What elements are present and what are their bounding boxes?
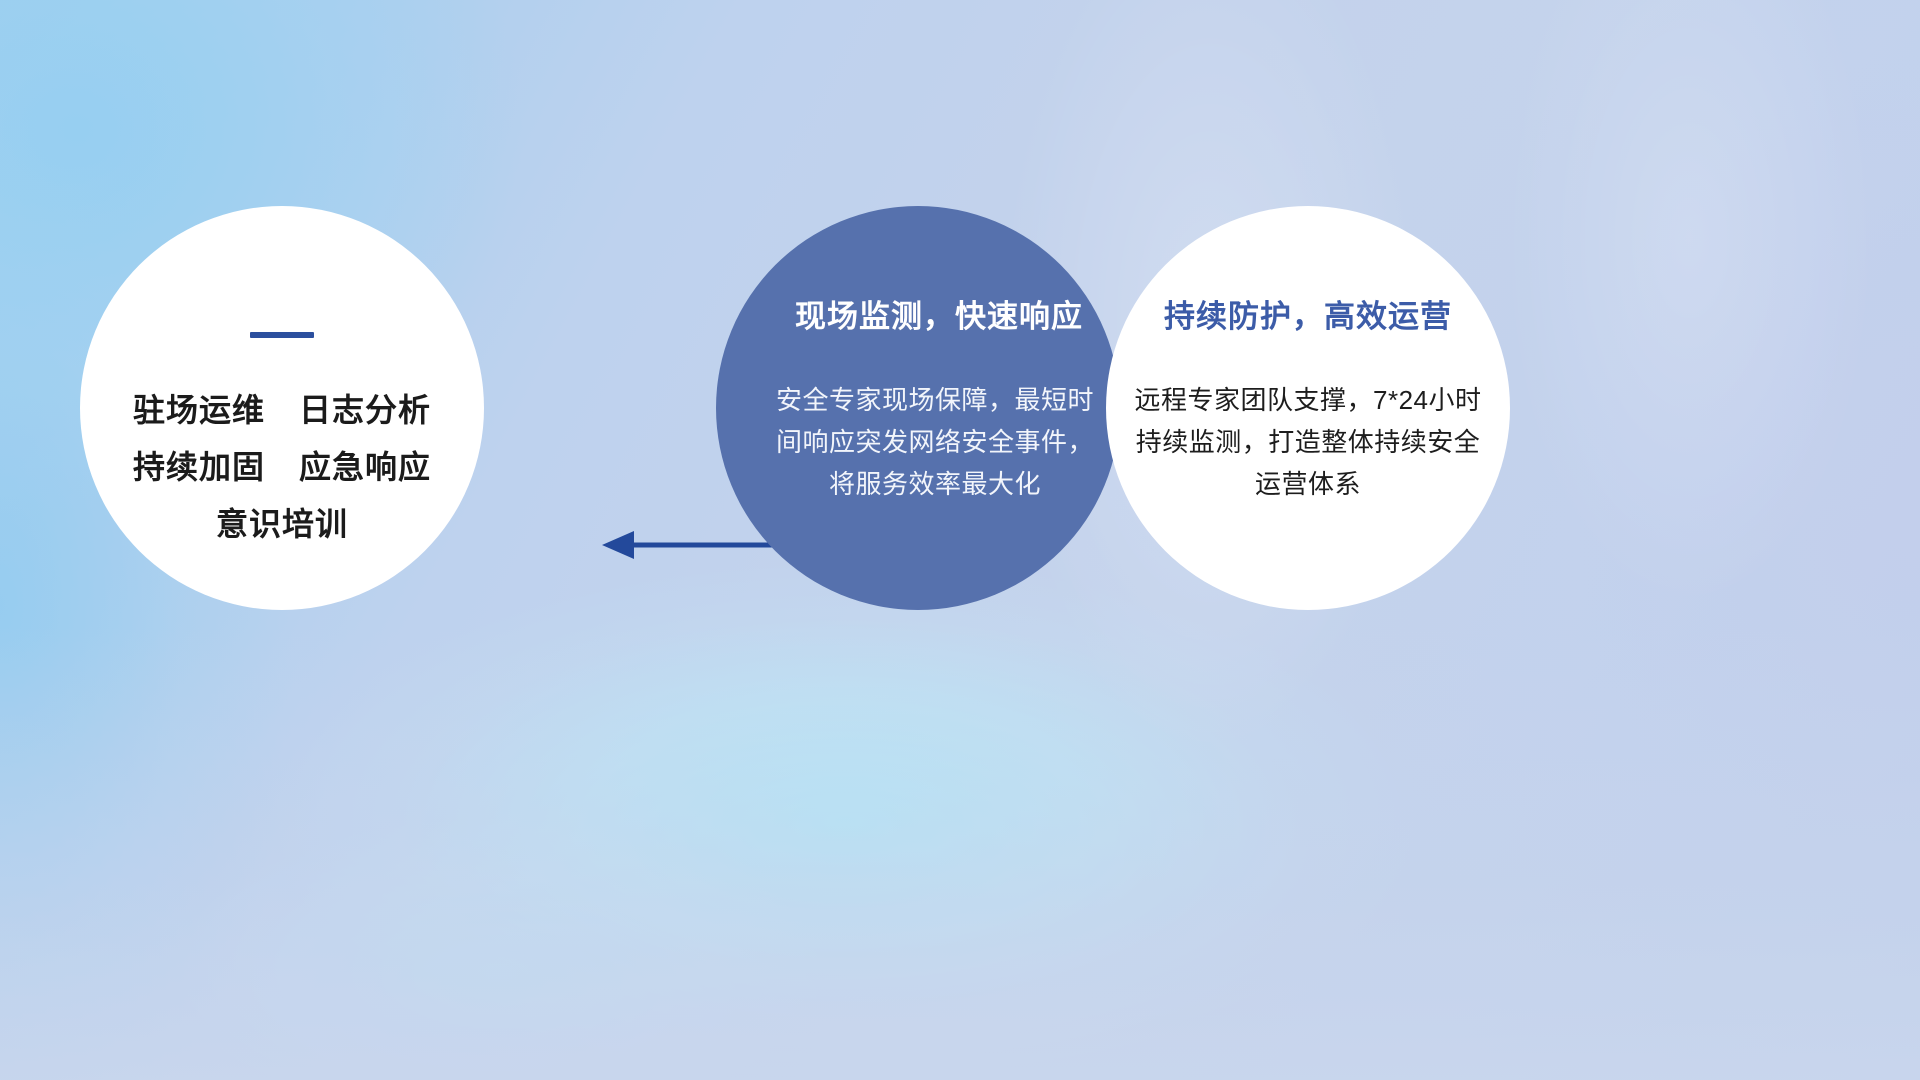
- capability-row: 意识培训: [216, 508, 348, 540]
- capability-keyword[interactable]: 意识培训: [216, 508, 348, 540]
- capability-keyword-list: 驻场运维 日志分析 持续加固 应急响应 意识培训: [133, 394, 431, 540]
- right-circle-body: 远程专家团队支撑，7*24小时持续监测，打造整体持续安全运营体系: [1134, 379, 1482, 505]
- right-circle-title: 持续防护，高效运营: [1134, 298, 1482, 335]
- divider-line: [250, 332, 314, 338]
- middle-circle-body: 安全专家现场保障，最短时间响应突发网络安全事件，将服务效率最大化: [776, 379, 1094, 505]
- capability-row: 驻场运维 日志分析: [133, 394, 431, 426]
- middle-circle-content: 现场监测，快速响应 安全专家现场保障，最短时间响应突发网络安全事件，将服务效率最…: [716, 206, 1120, 610]
- capability-keyword[interactable]: 日志分析: [299, 394, 431, 426]
- capability-keyword[interactable]: 驻场运维: [133, 394, 265, 426]
- capability-keyword[interactable]: 应急响应: [299, 451, 431, 483]
- left-circle-content: 驻场运维 日志分析 持续加固 应急响应 意识培训: [80, 206, 484, 610]
- capability-keyword[interactable]: 持续加固: [133, 451, 265, 483]
- middle-circle-title: 现场监测，快速响应: [784, 298, 1094, 335]
- slide-canvas: 驻场运维 日志分析 持续加固 应急响应 意识培训 现场监测，快速响应 安全专家现…: [0, 0, 1920, 1080]
- right-circle-content: 持续防护，高效运营 远程专家团队支撑，7*24小时持续监测，打造整体持续安全运营…: [1106, 206, 1510, 610]
- capability-row: 持续加固 应急响应: [133, 451, 431, 483]
